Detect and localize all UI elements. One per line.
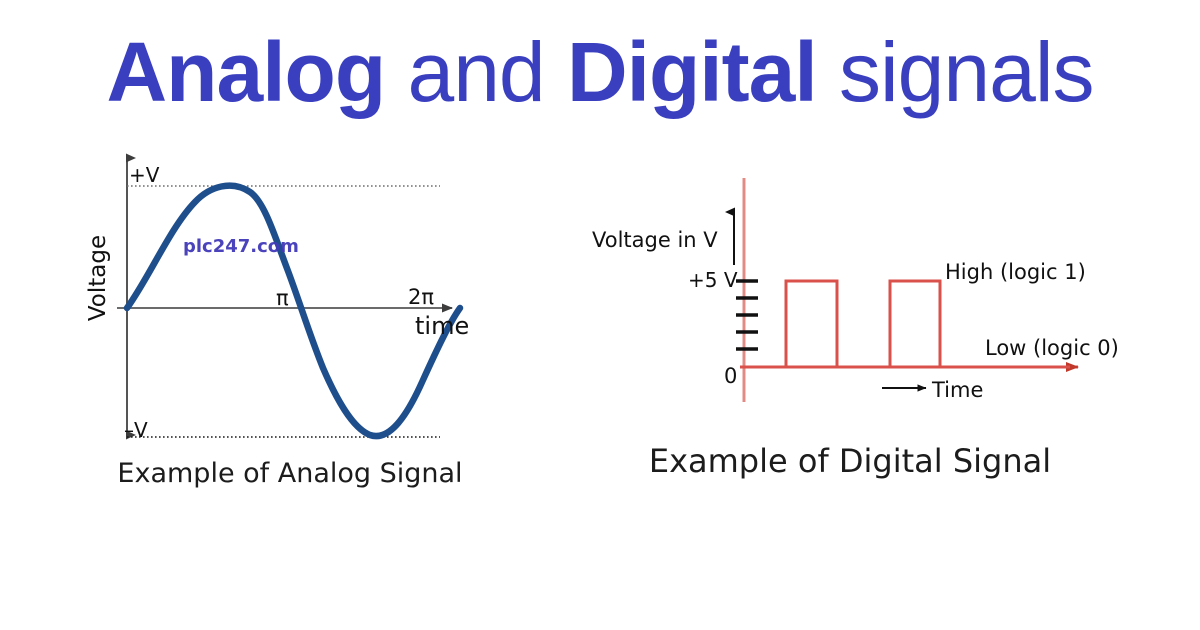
digital-ytick-zero: 0 xyxy=(724,364,737,388)
analog-signal-figure: +V –V π 2π time Voltage plc247.com Examp… xyxy=(60,140,520,510)
digital-signal-figure: Voltage in V +5 V 0 High (logic 1) Low (… xyxy=(570,150,1130,510)
analog-plus-v-label: +V xyxy=(129,163,159,187)
title-word-digital: Digital xyxy=(567,25,817,119)
digital-figure-caption: Example of Digital Signal xyxy=(570,442,1130,480)
analog-y-axis-label: Voltage xyxy=(85,235,111,321)
analog-xtick-2pi: 2π xyxy=(408,285,434,309)
digital-ytick-5v: +5 V xyxy=(688,268,738,292)
analog-x-axis-label: time xyxy=(415,312,469,340)
digital-high-label: High (logic 1) xyxy=(945,260,1086,284)
title-word-analog: Analog xyxy=(107,25,386,119)
digital-low-label: Low (logic 0) xyxy=(985,336,1119,360)
analog-signal-plot xyxy=(60,140,520,460)
title-word-and: and xyxy=(385,25,567,119)
digital-x-axis-label: Time xyxy=(932,378,983,402)
digital-signal-plot xyxy=(570,150,1130,442)
analog-minus-v-label: –V xyxy=(124,418,148,442)
watermark-plc247: plc247.com xyxy=(183,236,299,257)
page-title: Analog and Digital signals xyxy=(0,22,1200,122)
analog-sine-curve xyxy=(127,186,460,436)
digital-y-ticks xyxy=(736,281,758,349)
title-word-signals: signals xyxy=(817,25,1094,119)
analog-figure-caption: Example of Analog Signal xyxy=(60,458,520,489)
analog-xtick-pi: π xyxy=(276,286,289,310)
digital-y-axis-label: Voltage in V xyxy=(592,228,718,252)
